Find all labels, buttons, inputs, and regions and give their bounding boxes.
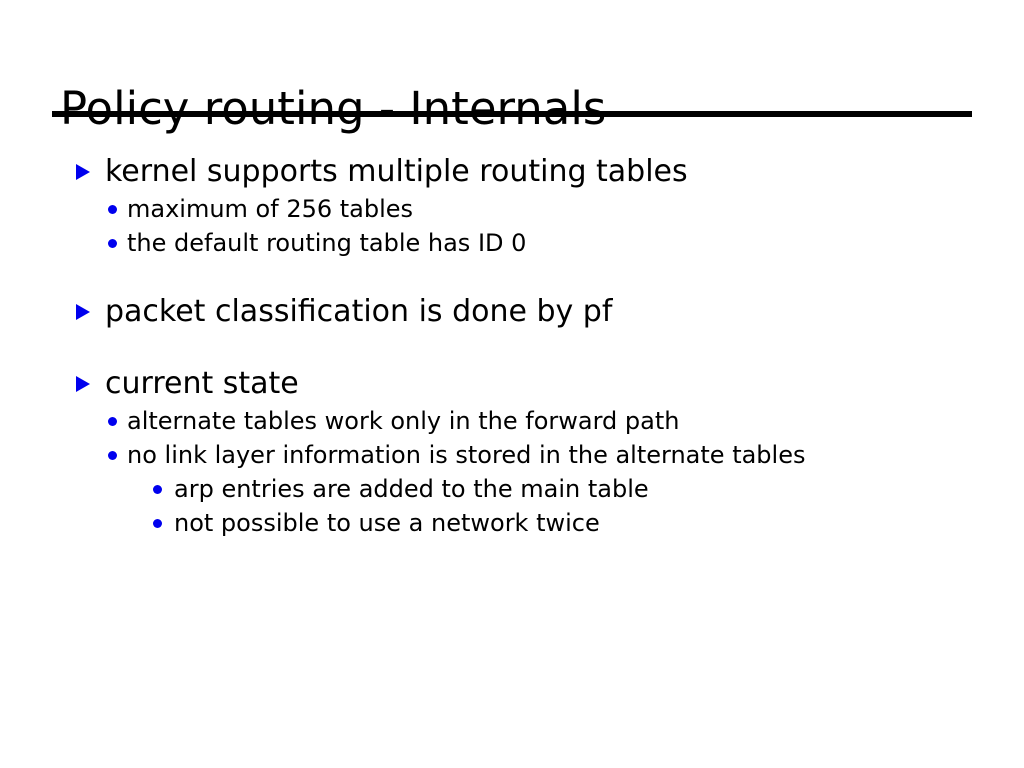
bullet-level3-label: arp entries are added to the main table [174, 472, 649, 506]
triangle-right-bullet-icon [76, 164, 90, 180]
round-bullet-icon [153, 485, 162, 494]
round-bullet-icon [108, 239, 117, 248]
bullet-level1-label: packet classification is done by pf [105, 292, 612, 332]
triangle-right-bullet-icon [76, 304, 90, 320]
bullet-group: packet classification is done by pf [0, 292, 1024, 332]
round-bullet-icon [108, 451, 117, 460]
bullet-level1-label: kernel supports multiple routing tables [105, 152, 688, 192]
bullet-level3: arp entries are added to the main table [0, 472, 1024, 506]
bullet-level1: kernel supports multiple routing tables [0, 152, 1024, 192]
bullet-group: kernel supports multiple routing tables … [0, 152, 1024, 260]
bullet-level2: maximum of 256 tables [0, 192, 1024, 226]
bullet-level1: current state [0, 364, 1024, 404]
page-title: Policy routing - Internals [60, 82, 606, 136]
slide-body: kernel supports multiple routing tables … [0, 152, 1024, 540]
bullet-level3: not possible to use a network twice [0, 506, 1024, 540]
bullet-level1-label: current state [105, 364, 299, 404]
bullet-level2: the default routing table has ID 0 [0, 226, 1024, 260]
title-divider [52, 111, 972, 117]
bullet-level2-label: alternate tables work only in the forwar… [127, 404, 679, 438]
round-bullet-icon [153, 519, 162, 528]
bullet-level2-label: the default routing table has ID 0 [127, 226, 526, 260]
bullet-level3-label: not possible to use a network twice [174, 506, 600, 540]
slide: Policy routing - Internals kernel suppor… [0, 0, 1024, 768]
triangle-right-bullet-icon [76, 376, 90, 392]
bullet-level2: alternate tables work only in the forwar… [0, 404, 1024, 438]
bullet-level2-label: maximum of 256 tables [127, 192, 413, 226]
bullet-level1: packet classification is done by pf [0, 292, 1024, 332]
round-bullet-icon [108, 417, 117, 426]
bullet-level2-label: no link layer information is stored in t… [127, 438, 805, 472]
bullet-group: current state alternate tables work only… [0, 364, 1024, 540]
round-bullet-icon [108, 205, 117, 214]
bullet-level2: no link layer information is stored in t… [0, 438, 1024, 472]
